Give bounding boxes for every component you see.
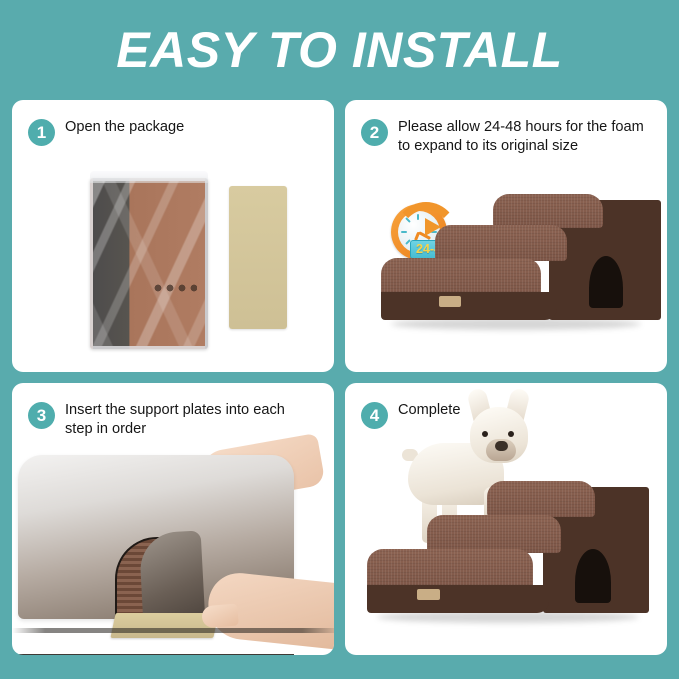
package-print-marks — [153, 283, 197, 293]
hand-top — [198, 433, 325, 505]
clock-tick — [431, 231, 437, 233]
pet-stairs-image — [373, 192, 663, 340]
stairs-step-top — [487, 481, 595, 517]
plastic-sheen — [93, 181, 205, 346]
stairs-base-front — [381, 292, 557, 320]
dog-nose — [495, 441, 508, 451]
page-title: EASY TO INSTALL — [116, 25, 562, 75]
step-1-text: Open the package — [65, 118, 184, 137]
clock-tick — [417, 214, 419, 220]
clock-tick — [405, 239, 411, 245]
product-shadow — [377, 611, 639, 623]
clock-tick — [417, 244, 419, 250]
step-card-1: 1 Open the package — [12, 100, 334, 372]
stairs-step-bottom — [381, 258, 541, 298]
step-number-badge-2: 2 — [361, 119, 388, 146]
hand-bottom — [205, 570, 334, 650]
stairs-step-top — [493, 194, 603, 228]
product-shadow — [391, 318, 641, 330]
insert-plate-scene — [12, 437, 334, 655]
dog-muzzle — [486, 439, 516, 461]
dog-hind-leg — [442, 495, 457, 543]
step-3-text: Insert the support plates into each step… — [65, 401, 315, 440]
fingers — [201, 603, 239, 628]
step-4-text: Complete — [398, 401, 460, 420]
clock-tick — [427, 239, 433, 245]
clock-ring — [391, 204, 447, 260]
dog-eye-left — [482, 431, 488, 437]
clock-hour-hand — [414, 232, 420, 241]
step-card-3: 3 Insert the support plates into each st… — [12, 383, 334, 655]
support-plate-inserting — [110, 613, 218, 638]
step-1-header: 1 Open the package — [12, 100, 334, 146]
stairs-base-side — [549, 200, 661, 320]
stairs-bottom-edge — [18, 654, 294, 655]
clock-icon: 24-48 — [389, 202, 455, 266]
step-4-header: 4 Complete — [345, 383, 667, 429]
clock-arrow-head — [425, 218, 441, 236]
dog-front-leg — [484, 487, 499, 521]
dog-hind-leg — [422, 495, 437, 543]
step-number-badge-4: 4 — [361, 402, 388, 429]
stairs-step-middle — [435, 225, 567, 261]
stairs-tunnel-arch — [575, 549, 611, 603]
clock-face — [398, 211, 440, 253]
stairs-tunnel-arch — [589, 256, 623, 308]
foam-flap — [139, 530, 206, 625]
steps-grid: 1 Open the package 2 Please allow 24-48 … — [0, 100, 679, 667]
stairs-base-side — [543, 487, 649, 613]
dog-eye-right — [508, 431, 514, 437]
ground-line — [12, 628, 334, 633]
step-2-text: Please allow 24-48 hours for the foam to… — [398, 118, 648, 157]
stairs-step-bottom — [367, 549, 533, 591]
step-2-header: 2 Please allow 24-48 hours for the foam … — [345, 100, 667, 157]
step-number-badge-1: 1 — [28, 119, 55, 146]
step-card-4: 4 Complete — [345, 383, 667, 655]
support-plate-image — [229, 186, 287, 329]
clock-tick — [401, 231, 407, 233]
clock-tick — [405, 217, 411, 223]
brand-label-patch — [417, 589, 440, 600]
clock-minute-hand — [418, 231, 431, 239]
stairs-step-middle — [427, 515, 561, 553]
stairs-base-front — [367, 585, 549, 613]
step-number-badge-3: 3 — [28, 402, 55, 429]
step-slot-opening — [115, 537, 202, 621]
duration-badge: 24-48 — [410, 240, 454, 259]
step-card-2: 2 Please allow 24-48 hours for the foam … — [345, 100, 667, 372]
clock-arrow-swoosh — [392, 202, 460, 240]
dog-body — [408, 443, 504, 505]
pet-stairs-image — [361, 481, 661, 629]
pet-stairs-underside-image — [18, 455, 294, 619]
infographic-page: EASY TO INSTALL 1 Open the package 2 Ple… — [0, 0, 679, 679]
header-banner: EASY TO INSTALL — [0, 0, 679, 100]
dog-tail — [402, 449, 418, 461]
vacuum-sealed-package-image — [90, 178, 208, 349]
step-3-header: 3 Insert the support plates into each st… — [12, 383, 334, 440]
brand-label-patch — [439, 296, 461, 307]
